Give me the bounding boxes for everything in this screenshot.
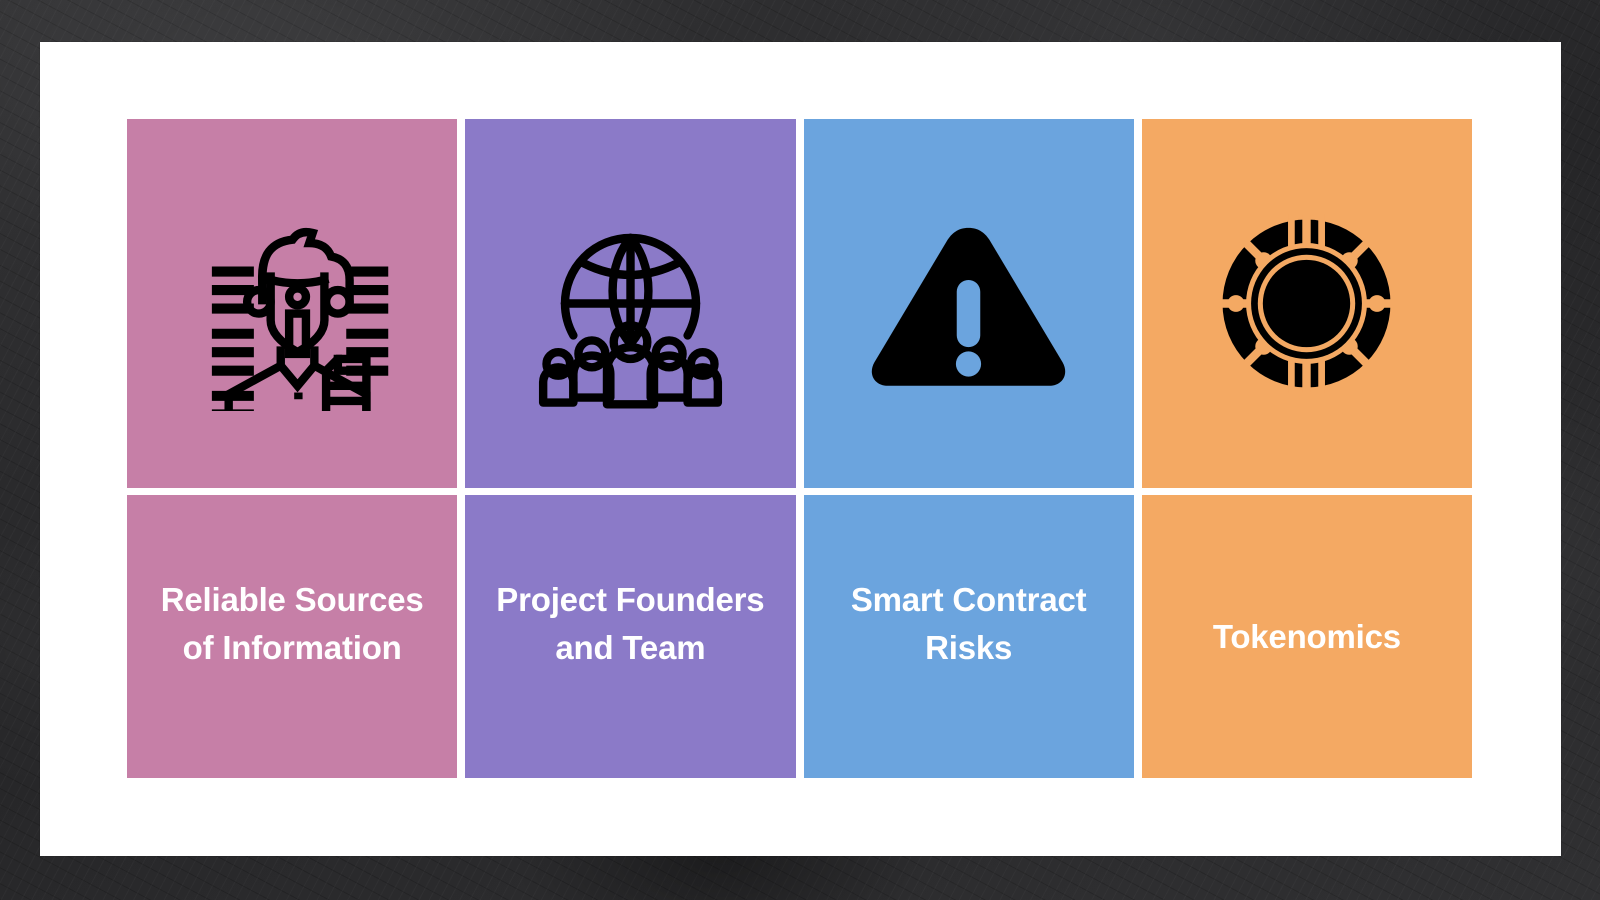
global-team-icon [523,196,738,411]
label-tile-smart-contract-risks[interactable]: Smart Contract Risks [804,495,1134,778]
tile-label-project-founders-and-team: Project Founders and Team [496,576,764,670]
icon-tile-project-founders-and-team[interactable] [465,119,795,488]
analyst-profile-icon [185,196,400,411]
tile-label-tokenomics: Tokenomics [1213,613,1401,660]
label-tile-reliable-sources-of-information[interactable]: Reliable Sources of Information [127,495,457,778]
icon-tile-smart-contract-risks[interactable] [804,119,1134,488]
label-tile-project-founders-and-team[interactable]: Project Founders and Team [465,495,795,778]
tile-grid: Reliable Sources of Information Project … [127,119,1472,778]
label-tile-tokenomics[interactable]: Tokenomics [1142,495,1472,778]
content-card: Reliable Sources of Information Project … [40,42,1561,856]
icon-tile-reliable-sources-of-information[interactable] [127,119,457,488]
warning-triangle-icon [861,196,1076,411]
token-coin-icon [1199,196,1414,411]
tile-label-reliable-sources-of-information: Reliable Sources of Information [161,576,424,670]
icon-tile-tokenomics[interactable] [1142,119,1472,488]
tile-label-smart-contract-risks: Smart Contract Risks [851,576,1087,670]
